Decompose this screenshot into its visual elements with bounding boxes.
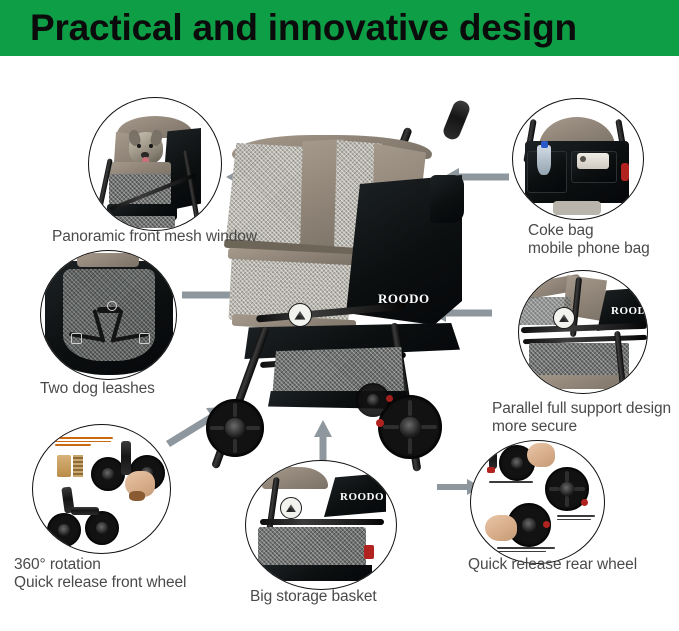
callout-quick-release-rear-wheel: [470, 440, 605, 564]
inset-note-rear-wheel-right: [557, 515, 595, 522]
infographic-page: Practical and innovative design: [0, 0, 679, 631]
callout-image-organizer-bag: [513, 99, 643, 219]
label-parallel-full-support-design: Parallel full support design more secure: [492, 400, 679, 435]
main-product-image: ROODO: [200, 95, 490, 460]
callout-two-dog-leashes: [40, 250, 177, 380]
inset-note-shock-absorption: [55, 437, 113, 448]
label-coke-bag-mobile-phone-bag: Coke bag mobile phone bag: [528, 222, 679, 257]
callout-image-front-wheel-detail: [33, 425, 170, 553]
water-bottle: [537, 145, 551, 175]
support-emblem-logo: [553, 307, 575, 329]
callout-panoramic-front-mesh-window: [88, 97, 222, 231]
basket-brand-label: ROODO: [340, 491, 384, 503]
label-two-dog-leashes: Two dog leashes: [40, 380, 260, 398]
label-quick-release-rear-wheel: Quick release rear wheel: [468, 556, 679, 574]
front-wheel: [206, 399, 264, 457]
page-title: Practical and innovative design: [30, 3, 670, 53]
rear-wheel-inner: [356, 383, 390, 417]
inset-note-rear-wheel-top: [489, 481, 533, 485]
callout-coke-bag-mobile-phone-bag: [512, 98, 644, 220]
handle-grip: [441, 98, 472, 141]
label-panoramic-front-mesh-window: Panoramic front mesh window: [52, 228, 302, 246]
callout-image-dog-in-stroller: [89, 98, 221, 230]
callout-image-stroller-interior: [41, 251, 176, 379]
callout-image-rear-wheel-detail: [471, 441, 604, 563]
label-big-storage-basket: Big storage basket: [250, 588, 450, 606]
callout-360-rotation-front-wheel: [32, 424, 171, 554]
callout-big-storage-basket: ROODO: [245, 460, 397, 590]
callout-parallel-full-support-design: ROODO: [518, 270, 648, 394]
rear-pocket: [430, 175, 464, 223]
frame-emblem-logo: [288, 303, 312, 327]
label-360-rotation-front-wheel: 360° rotation Quick release front wheel: [14, 556, 244, 591]
inset-note-rear-wheel-bottom: [497, 547, 555, 554]
callout-image-storage-basket: ROODO: [246, 461, 396, 589]
callout-image-parallel-support: ROODO: [519, 271, 647, 393]
support-brand-label: ROODO: [611, 305, 648, 317]
basket-emblem-logo: [280, 497, 302, 519]
